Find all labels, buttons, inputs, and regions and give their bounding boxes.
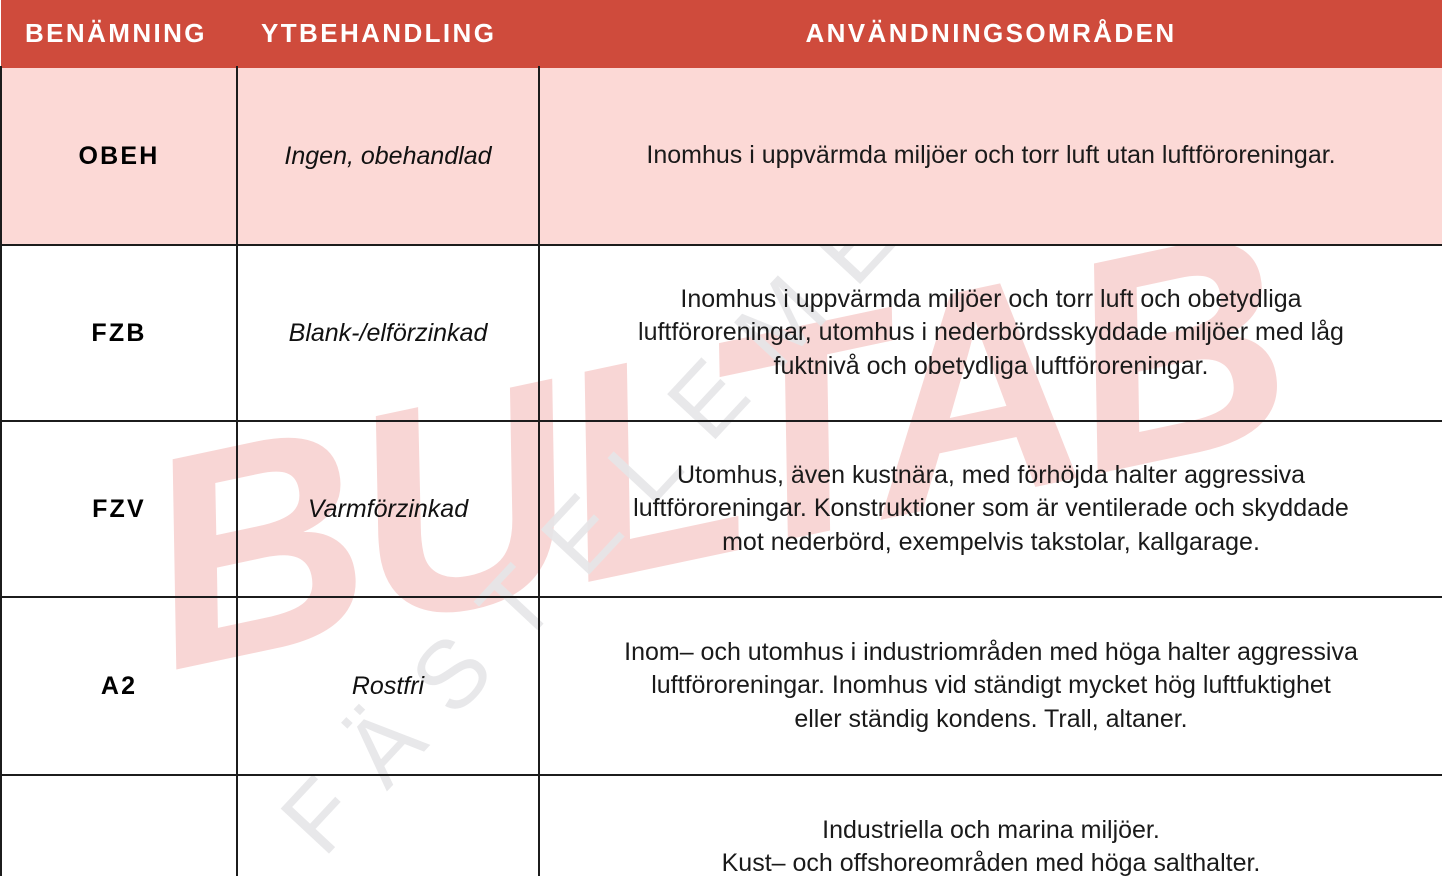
- usage-line: Inom– och utomhus i industriområden med …: [562, 636, 1420, 669]
- usage-line: Industriella och marina miljöer.: [562, 814, 1420, 847]
- surface-treatment-table: BENÄMNING YTBEHANDLING ANVÄNDNINGSOMRÅDE…: [0, 0, 1442, 876]
- cell-surface-treatment: Rostfri, syrafast: [237, 775, 539, 876]
- cell-usage-areas: Utomhus, även kustnära, med förhöjda hal…: [539, 421, 1442, 597]
- column-header-ytbehandling: YTBEHANDLING: [237, 0, 539, 67]
- cell-surface-treatment: Varmförzinkad: [237, 421, 539, 597]
- table-header: BENÄMNING YTBEHANDLING ANVÄNDNINGSOMRÅDE…: [1, 0, 1442, 67]
- table-row: FZB Blank-/elförzinkad Inomhus i uppvärm…: [1, 245, 1442, 421]
- usage-line: luftföroreningar, utomhus i nederbördssk…: [562, 316, 1420, 349]
- cell-designation: A2: [1, 597, 237, 775]
- usage-line: luftföroreningar. Inomhus vid ständigt m…: [562, 669, 1420, 702]
- table-body: OBEH Ingen, obehandlad Inomhus i uppvärm…: [1, 67, 1442, 876]
- table-row: A2 Rostfri Inom– och utomhus i industrio…: [1, 597, 1442, 775]
- table-row: FZV Varmförzinkad Utomhus, även kustnära…: [1, 421, 1442, 597]
- table-header-row: BENÄMNING YTBEHANDLING ANVÄNDNINGSOMRÅDE…: [1, 0, 1442, 67]
- cell-usage-areas: Inomhus i uppvärmda miljöer och torr luf…: [539, 245, 1442, 421]
- table-row: A4 Rostfri, syrafast Industriella och ma…: [1, 775, 1442, 876]
- usage-line: Inomhus i uppvärmda miljöer och torr luf…: [562, 283, 1420, 316]
- column-header-benamning: BENÄMNING: [1, 0, 237, 67]
- usage-line: fuktnivå och obetydliga luftföroreningar…: [562, 350, 1420, 383]
- cell-surface-treatment: Rostfri: [237, 597, 539, 775]
- cell-designation: OBEH: [1, 67, 237, 245]
- table-row: OBEH Ingen, obehandlad Inomhus i uppvärm…: [1, 67, 1442, 245]
- usage-line: eller ständig kondens. Trall, altaner.: [562, 703, 1420, 736]
- usage-line: Utomhus, även kustnära, med förhöjda hal…: [562, 459, 1420, 492]
- column-header-anvandningsomraden: ANVÄNDNINGSOMRÅDEN: [539, 0, 1442, 67]
- cell-designation: FZB: [1, 245, 237, 421]
- cell-usage-areas: Inomhus i uppvärmda miljöer och torr luf…: [539, 67, 1442, 245]
- usage-line: mot nederbörd, exempelvis takstolar, kal…: [562, 526, 1420, 559]
- usage-line: luftföroreningar. Konstruktioner som är …: [562, 492, 1420, 525]
- cell-designation: A4: [1, 775, 237, 876]
- spec-table-page: BULTAB FÄSTELEMENT BENÄMNING YTBEHANDLIN…: [0, 0, 1442, 876]
- usage-line: Inomhus i uppvärmda miljöer och torr luf…: [562, 139, 1420, 172]
- cell-designation: FZV: [1, 421, 237, 597]
- cell-usage-areas: Industriella och marina miljöer. Kust– o…: [539, 775, 1442, 876]
- cell-usage-areas: Inom– och utomhus i industriområden med …: [539, 597, 1442, 775]
- table-container: BENÄMNING YTBEHANDLING ANVÄNDNINGSOMRÅDE…: [0, 0, 1442, 876]
- cell-surface-treatment: Ingen, obehandlad: [237, 67, 539, 245]
- cell-surface-treatment: Blank-/elförzinkad: [237, 245, 539, 421]
- usage-line: Kust– och offshoreområden med höga salth…: [562, 847, 1420, 876]
